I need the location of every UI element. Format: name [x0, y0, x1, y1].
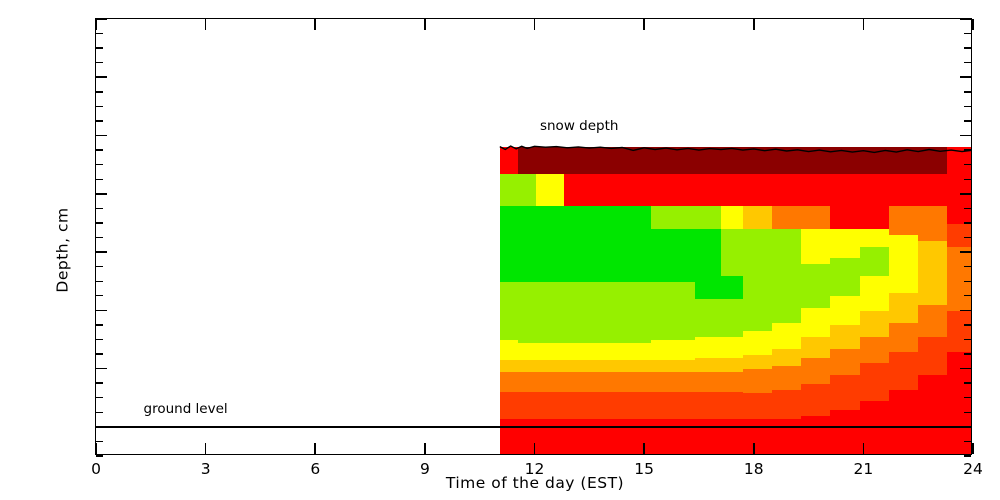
ground-level-line	[96, 426, 971, 429]
y-tick-minor	[96, 106, 103, 107]
x-tick-label: 24	[963, 460, 983, 478]
y-tick-minor	[96, 120, 103, 121]
x-tick-major-top	[424, 19, 426, 30]
x-tick-major-top	[863, 19, 865, 30]
snow-depth-line	[96, 19, 971, 454]
ground-level-label: ground level	[144, 401, 228, 417]
snow-depth-label: snow depth	[540, 118, 618, 134]
y-tick-major-right	[960, 18, 971, 20]
y-tick-major-right	[960, 310, 971, 312]
y-tick-minor-right	[964, 397, 971, 398]
y-tick-minor	[96, 397, 103, 398]
chart-root: Temperature Profile Mar 26, 2015 (201508…	[0, 0, 1000, 500]
y-axis-label: Depth, cm	[54, 207, 72, 292]
y-tick-major-right	[960, 193, 971, 195]
y-tick-major-right	[960, 426, 971, 428]
y-tick-major	[96, 18, 107, 20]
y-tick-minor-right	[964, 120, 971, 121]
x-tick-major-top	[95, 19, 97, 30]
x-tick-major	[643, 443, 645, 454]
y-tick-major-right	[960, 251, 971, 253]
x-tick-major	[314, 443, 316, 454]
x-tick-label: 15	[634, 460, 654, 478]
y-tick-minor-right	[964, 149, 971, 150]
y-tick-minor	[96, 222, 103, 223]
y-tick-minor	[96, 62, 103, 63]
y-tick-minor	[96, 91, 103, 92]
y-tick-minor	[96, 164, 103, 165]
y-tick-minor	[96, 295, 103, 296]
y-tick-minor	[96, 353, 103, 354]
y-tick-minor-right	[964, 412, 971, 413]
snow-depth-polyline	[500, 146, 971, 152]
x-tick-label: 3	[201, 460, 211, 478]
y-tick-minor-right	[964, 237, 971, 238]
y-tick-minor	[96, 149, 103, 150]
y-tick-major-right	[960, 135, 971, 137]
x-tick-major	[863, 443, 865, 454]
y-tick-major	[96, 426, 107, 428]
x-tick-major	[95, 443, 97, 454]
plot-clip: ground level snow depth	[96, 19, 971, 454]
x-tick-label: 6	[310, 460, 320, 478]
x-tick-label: 18	[744, 460, 764, 478]
x-tick-major-top	[753, 19, 755, 30]
y-tick-minor	[96, 179, 103, 180]
x-tick-major-top	[643, 19, 645, 30]
y-tick-minor	[96, 412, 103, 413]
y-tick-minor	[96, 455, 103, 456]
y-tick-minor	[96, 339, 103, 340]
y-tick-major	[96, 310, 107, 312]
y-tick-minor-right	[964, 91, 971, 92]
y-tick-major	[96, 251, 107, 253]
y-tick-minor	[96, 33, 103, 34]
x-tick-major-top	[205, 19, 207, 30]
y-tick-minor-right	[964, 353, 971, 354]
x-tick-label: 12	[525, 460, 545, 478]
y-tick-major	[96, 76, 107, 78]
y-tick-major	[96, 135, 107, 137]
y-tick-minor	[96, 47, 103, 48]
y-tick-minor-right	[964, 208, 971, 209]
x-tick-label: 21	[854, 460, 874, 478]
x-tick-major	[753, 443, 755, 454]
y-tick-minor-right	[964, 295, 971, 296]
x-tick-major-top	[534, 19, 536, 30]
y-tick-minor	[96, 266, 103, 267]
y-tick-minor-right	[964, 441, 971, 442]
y-tick-minor-right	[964, 164, 971, 165]
y-tick-minor-right	[964, 179, 971, 180]
y-tick-minor	[96, 324, 103, 325]
y-tick-minor-right	[964, 33, 971, 34]
y-tick-minor	[96, 281, 103, 282]
y-tick-minor-right	[964, 324, 971, 325]
y-tick-major	[96, 193, 107, 195]
x-tick-label: 0	[91, 460, 101, 478]
y-tick-minor-right	[964, 266, 971, 267]
x-tick-label: 9	[420, 460, 430, 478]
y-tick-minor-right	[964, 62, 971, 63]
y-tick-major-right	[960, 368, 971, 370]
y-tick-minor	[96, 237, 103, 238]
y-tick-minor	[96, 208, 103, 209]
x-tick-major-top	[314, 19, 316, 30]
plot-area: ground level snow depth 0204060801001201…	[95, 18, 972, 455]
y-tick-minor-right	[964, 339, 971, 340]
x-tick-major	[972, 443, 974, 454]
y-tick-minor	[96, 382, 103, 383]
x-tick-major	[534, 443, 536, 454]
y-tick-minor-right	[964, 281, 971, 282]
x-tick-major-top	[972, 19, 974, 30]
x-tick-major	[424, 443, 426, 454]
y-tick-minor-right	[964, 382, 971, 383]
y-tick-minor-right	[964, 106, 971, 107]
x-tick-major	[205, 443, 207, 454]
y-tick-major-right	[960, 76, 971, 78]
y-tick-minor	[96, 441, 103, 442]
y-tick-minor-right	[964, 455, 971, 456]
y-tick-minor-right	[964, 222, 971, 223]
y-tick-minor-right	[964, 47, 971, 48]
y-tick-major	[96, 368, 107, 370]
